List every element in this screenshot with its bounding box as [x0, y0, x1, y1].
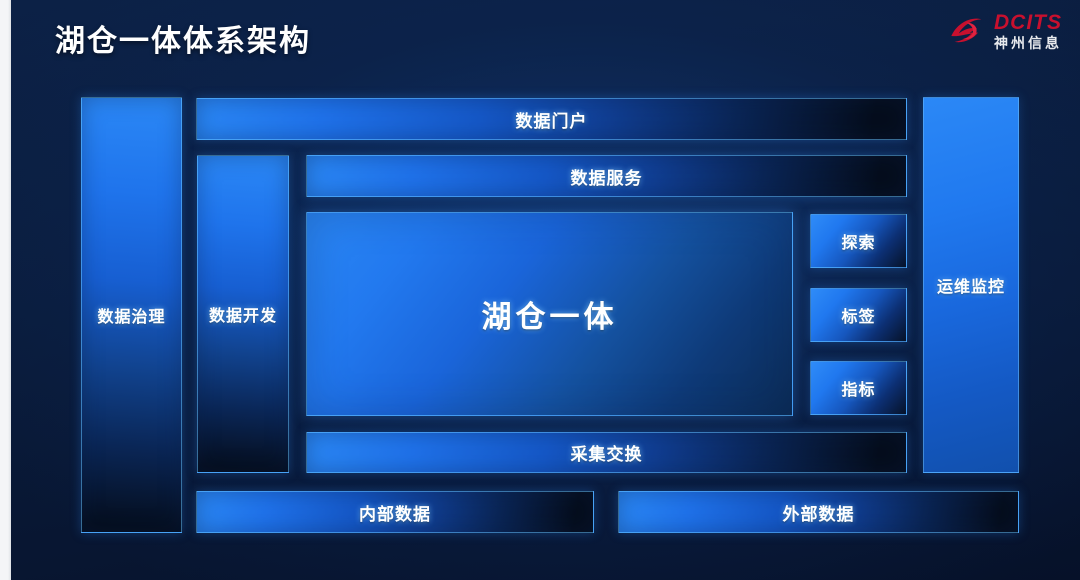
block-label: 数据服务 — [571, 164, 643, 189]
block-label: 数据治理 — [97, 303, 165, 327]
block-explore[interactable]: 探索 — [810, 214, 907, 268]
block-label: 标签 — [841, 303, 875, 327]
block-label: 采集交换 — [571, 440, 643, 465]
block-data-governance[interactable]: 数据治理 — [81, 97, 182, 533]
brand-name-cn: 神州信息 — [994, 36, 1062, 50]
block-data-development[interactable]: 数据开发 — [197, 155, 289, 473]
brand-name-en: DCITS — [994, 12, 1062, 33]
block-label: 数据开发 — [209, 302, 277, 326]
block-tags[interactable]: 标签 — [810, 288, 907, 342]
block-metrics[interactable]: 指标 — [810, 361, 907, 415]
block-collection-exchange[interactable]: 采集交换 — [306, 432, 907, 473]
block-ops-monitoring[interactable]: 运维监控 — [923, 97, 1019, 473]
block-label: 内部数据 — [359, 500, 431, 525]
block-lakehouse-core[interactable]: 湖仓一体 — [306, 212, 793, 416]
left-gutter-strip — [0, 0, 11, 580]
block-label: 数据门户 — [516, 107, 588, 132]
block-data-portal[interactable]: 数据门户 — [196, 98, 907, 140]
brand-text: DCITS 神州信息 — [994, 12, 1062, 50]
block-label: 指标 — [841, 376, 875, 400]
dcits-swirl-logo-icon — [948, 10, 988, 52]
page-title: 湖仓一体体系架构 — [55, 16, 311, 60]
block-label: 湖仓一体 — [482, 292, 618, 336]
block-internal-data[interactable]: 内部数据 — [196, 491, 594, 533]
brand-logo: DCITS 神州信息 — [948, 10, 1062, 52]
block-label: 运维监控 — [937, 273, 1005, 297]
block-data-service[interactable]: 数据服务 — [306, 155, 907, 197]
block-label: 探索 — [841, 229, 875, 253]
block-label: 外部数据 — [783, 500, 855, 525]
slide-canvas: 湖仓一体体系架构 DCITS 神州信息 数据治理 数据开发 数据门户 数据服务 … — [0, 0, 1080, 580]
block-external-data[interactable]: 外部数据 — [618, 491, 1019, 533]
